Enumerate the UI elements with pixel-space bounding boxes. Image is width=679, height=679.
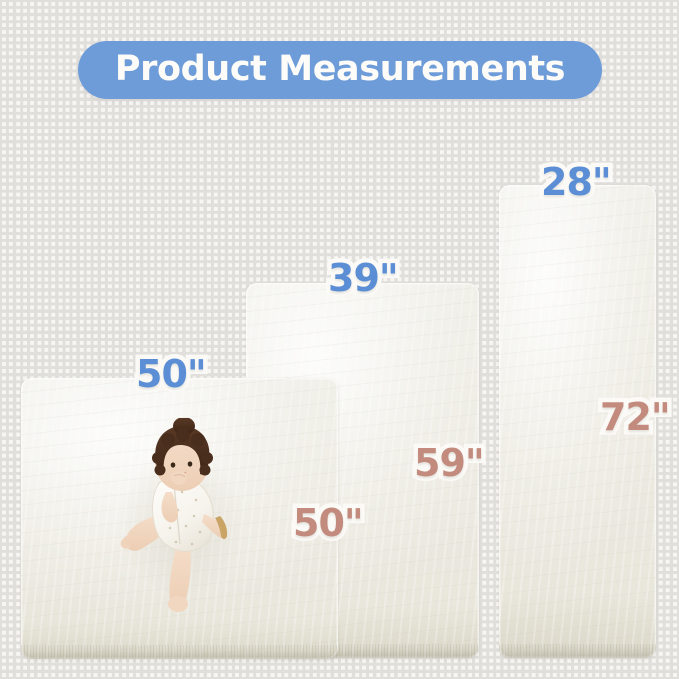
infographic-canvas: Product Measurements xyxy=(0,0,679,679)
toddler-hands xyxy=(171,471,187,485)
toddler-eye-left xyxy=(171,462,176,467)
dimension-label-medium-width: 39" xyxy=(328,259,398,297)
page-title: Product Measurements xyxy=(115,52,565,89)
dimension-label-square-length: 50" xyxy=(293,504,363,542)
dimension-label-runner-length: 72" xyxy=(600,398,670,436)
dimension-label-medium-length: 59" xyxy=(414,444,484,482)
toddler-eye-right xyxy=(188,461,193,466)
dimension-label-runner-width: 28" xyxy=(541,163,611,201)
toddler-foot xyxy=(168,596,188,612)
toddler-model-image xyxy=(108,418,260,614)
dimension-label-square-width: 50" xyxy=(136,355,206,393)
title-banner: Product Measurements xyxy=(78,41,602,99)
